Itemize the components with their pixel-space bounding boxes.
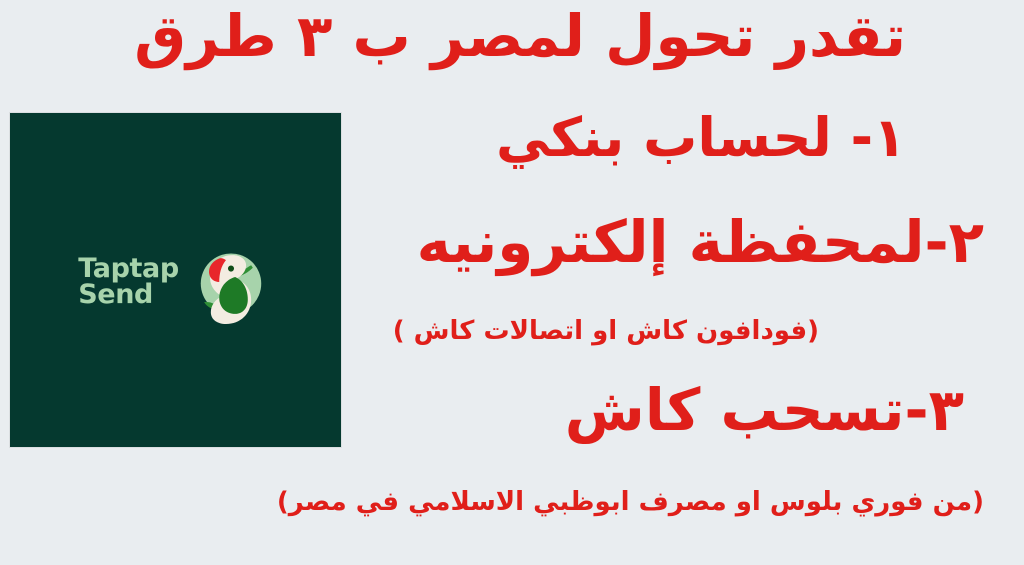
method-item-3-label: ٣-تسحب كاش	[565, 376, 964, 444]
method-item-3-note: (من فوري بلوس او مصرف ابوظبي الاسلامي في…	[277, 487, 984, 517]
poster-canvas: Taptap Send تقدر تحول لمصر ب ٣ طرق ١- لح…	[0, 0, 1024, 565]
method-item-1-label: ١- لحساب بنكي	[496, 106, 906, 169]
method-item-2-label: ٢-لمحفظة إلكترونيه	[417, 208, 984, 276]
method-item-2-note: (فودافون كاش او اتصالات كاش )	[393, 316, 819, 346]
promo-copy: تقدر تحول لمصر ب ٣ طرق ١- لحساب بنكي ٢-ل…	[0, 0, 1024, 565]
page-title: تقدر تحول لمصر ب ٣ طرق	[134, 2, 906, 70]
